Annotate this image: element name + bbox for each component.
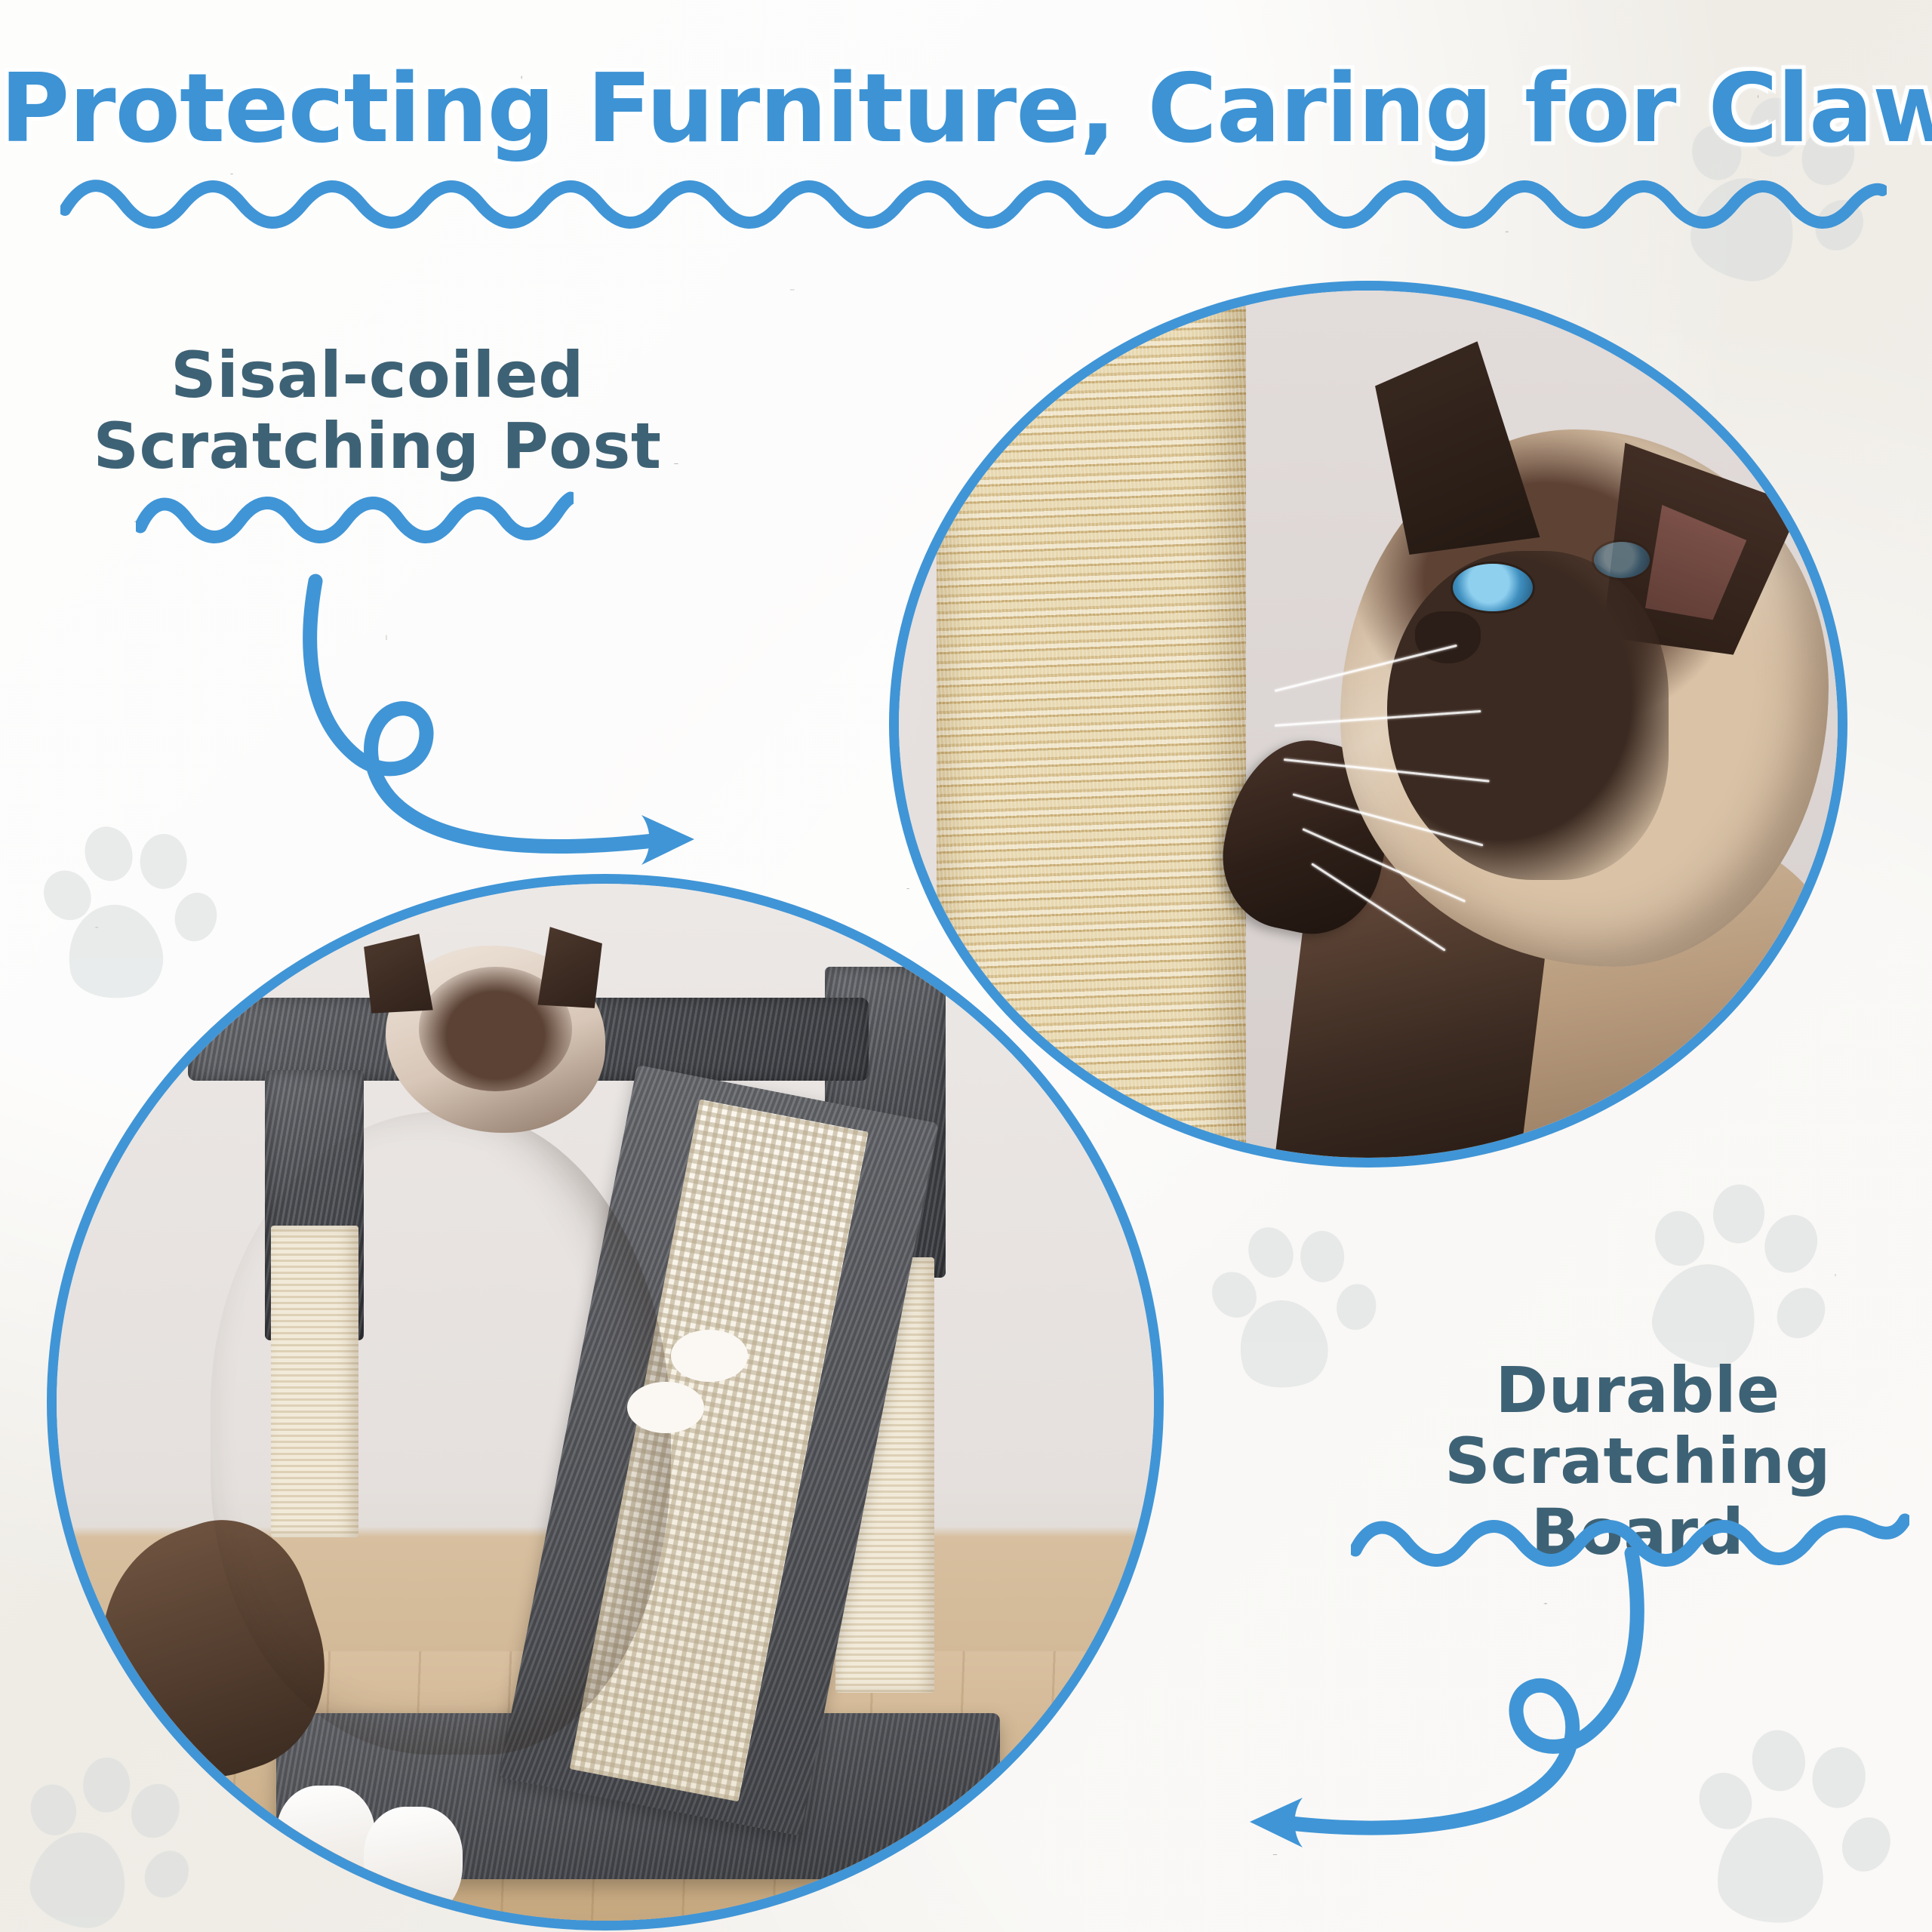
cat-nose [1415,611,1481,663]
feature-photo-scratching-board [47,874,1164,1930]
page-title-wrap: Protecting Furniture, Caring for Claws [0,59,1932,158]
feature-underline-squiggle-post [136,477,574,545]
title-underline-squiggle [60,165,1887,232]
cat-paw-front-lower [627,1382,704,1434]
feature-label-line1: Durable [1336,1355,1932,1426]
feature-label-line2: Scratching Post [91,411,664,481]
feature-label-line1: Sisal-coiled [91,340,664,411]
feature-label-sisal-post: Sisal-coiled Scratching Post [91,340,664,481]
photo-scene-board [57,884,1154,1921]
poster-canvas: Protecting Furniture, Caring for Claws S… [0,0,1932,1932]
curly-arrow-left-icon [1140,1547,1660,1872]
page-title: Protecting Furniture, Caring for Claws [0,59,1932,158]
cat-hind-foot-right [364,1807,463,1921]
cat-body [211,1112,672,1755]
paw-print-icon [1691,1714,1902,1932]
cat-hind-foot-left [276,1786,375,1900]
cat-eye-left [1453,564,1533,611]
curly-arrow-right-icon [287,566,785,891]
cat-paw-front-upper [671,1330,748,1382]
